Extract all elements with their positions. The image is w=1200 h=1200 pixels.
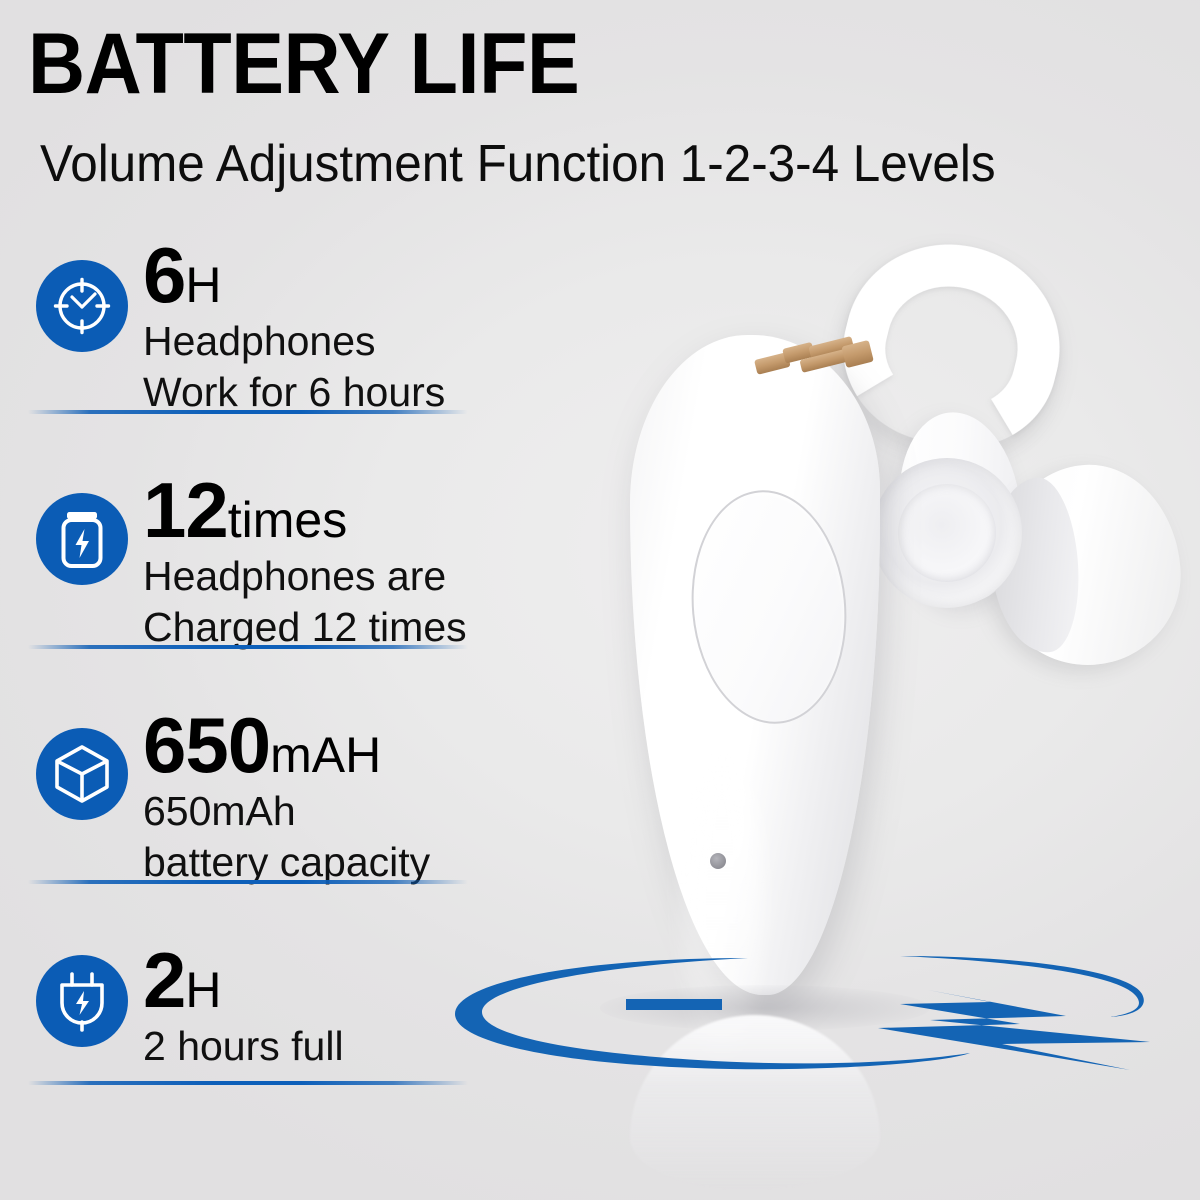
cube-icon-badge	[36, 728, 128, 820]
page-subtitle: Volume Adjustment Function 1-2-3-4 Level…	[40, 134, 996, 194]
feature-text: 650mAH 650mAh battery capacity	[143, 706, 430, 886]
touch-button	[682, 484, 856, 731]
feature-description-line2: Work for 6 hours	[143, 369, 445, 416]
feature-value: 2H	[143, 941, 344, 1019]
earbud-body	[630, 335, 880, 995]
feature-description-line1: 650mAh	[143, 788, 430, 835]
feature-value-number: 2	[143, 936, 185, 1024]
feature-divider	[28, 880, 468, 884]
feature-value-unit: H	[185, 962, 221, 1018]
feature-item-battery-life: 6H Headphones Work for 6 hours	[0, 236, 520, 471]
feature-description-line1: 2 hours full	[143, 1023, 344, 1070]
power-plug-icon	[51, 970, 113, 1032]
clock-icon	[50, 274, 114, 338]
feature-value: 6H	[143, 236, 445, 314]
feature-description-line1: Headphones are	[143, 553, 467, 600]
page-title: BATTERY LIFE	[28, 18, 579, 110]
feature-value: 650mAH	[143, 706, 430, 784]
feature-divider	[28, 1081, 468, 1085]
feature-text: 6H Headphones Work for 6 hours	[143, 236, 445, 416]
feature-description-line1: Headphones	[143, 318, 445, 365]
feature-divider	[28, 645, 468, 649]
feature-value-number: 650	[143, 701, 270, 789]
blue-swoosh-lightning-graphic	[430, 920, 1200, 1120]
feature-text: 12times Headphones are Charged 12 times	[143, 471, 467, 651]
feature-text: 2H 2 hours full	[143, 941, 344, 1070]
feature-description-line2: Charged 12 times	[143, 604, 467, 651]
feature-value-number: 12	[143, 466, 228, 554]
infographic-poster: BATTERY LIFE Volume Adjustment Function …	[0, 0, 1200, 1200]
feature-item-capacity: 650mAH 650mAh battery capacity	[0, 706, 520, 941]
clock-icon-badge	[36, 260, 128, 352]
feature-value-number: 6	[143, 231, 185, 319]
feature-value-unit: times	[228, 492, 347, 548]
battery-charge-icon	[51, 508, 113, 570]
cube-icon	[51, 743, 113, 805]
feature-value-unit: mAH	[270, 727, 381, 783]
feature-value: 12times	[143, 471, 467, 549]
feature-item-charge-times: 12times Headphones are Charged 12 times	[0, 471, 520, 706]
battery-charge-icon-badge	[36, 493, 128, 585]
power-plug-icon-badge	[36, 955, 128, 1047]
microphone-hole	[710, 853, 726, 869]
feature-divider	[28, 410, 468, 414]
speaker-driver	[872, 458, 1022, 608]
feature-description-line2: battery capacity	[143, 839, 430, 886]
feature-value-unit: H	[185, 257, 221, 313]
